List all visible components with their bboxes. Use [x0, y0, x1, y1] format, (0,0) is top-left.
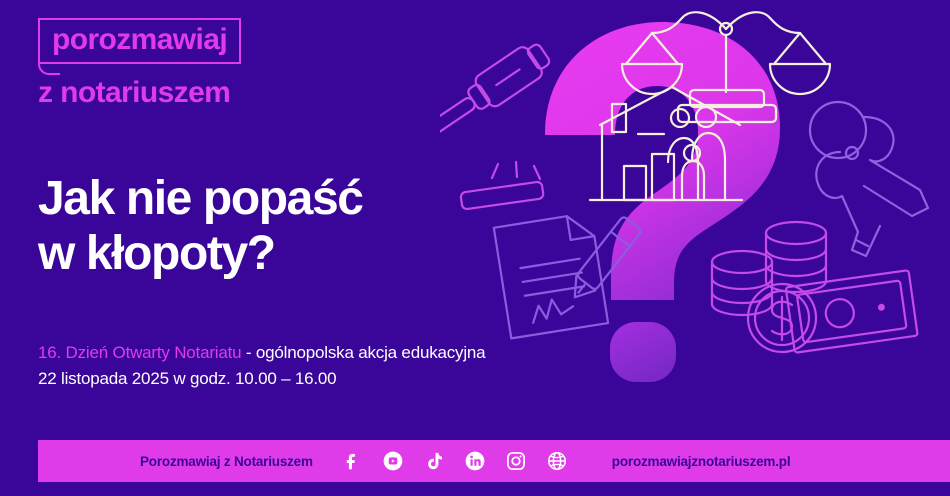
headline-line-1: Jak nie popaść — [38, 172, 363, 227]
money-icon — [712, 222, 918, 353]
instagram-icon[interactable] — [505, 450, 527, 472]
event-date: 22 listopada 2025 w godz. 10.00 – 16.00 — [38, 366, 485, 392]
page-title: Jak nie popaść w kłopoty? — [38, 172, 363, 281]
linkedin-icon[interactable] — [464, 450, 486, 472]
event-details: 16. Dzień Otwarty Notariatu - ogólnopols… — [38, 340, 485, 391]
gavel-icon — [440, 38, 554, 210]
illustration — [440, 0, 950, 440]
facebook-icon[interactable] — [341, 450, 363, 472]
footer-brand: Porozmawiaj z Notariuszem — [140, 454, 313, 469]
campaign-banner: porozmawiaj z notariuszem Jak nie popaść… — [0, 0, 950, 496]
tiktok-icon[interactable] — [423, 450, 445, 472]
logo[interactable]: porozmawiaj z notariuszem — [38, 18, 308, 110]
social-links — [341, 450, 568, 472]
footer-url[interactable]: porozmawiajznotariuszem.pl — [612, 454, 791, 469]
youtube-icon[interactable] — [382, 450, 404, 472]
logo-line-2: z notariuszem — [38, 76, 308, 110]
globe-icon[interactable] — [546, 450, 568, 472]
event-name: 16. Dzień Otwarty Notariatu — [38, 343, 241, 362]
event-line-1: 16. Dzień Otwarty Notariatu - ogólnopols… — [38, 340, 485, 366]
keys-icon — [810, 102, 928, 256]
footer-bar: Porozmawiaj z Notariuszem — [38, 440, 950, 482]
speech-bubble-tail-icon — [38, 60, 60, 75]
headline-line-2: w kłopoty? — [38, 227, 363, 282]
logo-line-1: porozmawiaj — [52, 25, 227, 55]
logo-speech-bubble: porozmawiaj — [38, 18, 241, 64]
